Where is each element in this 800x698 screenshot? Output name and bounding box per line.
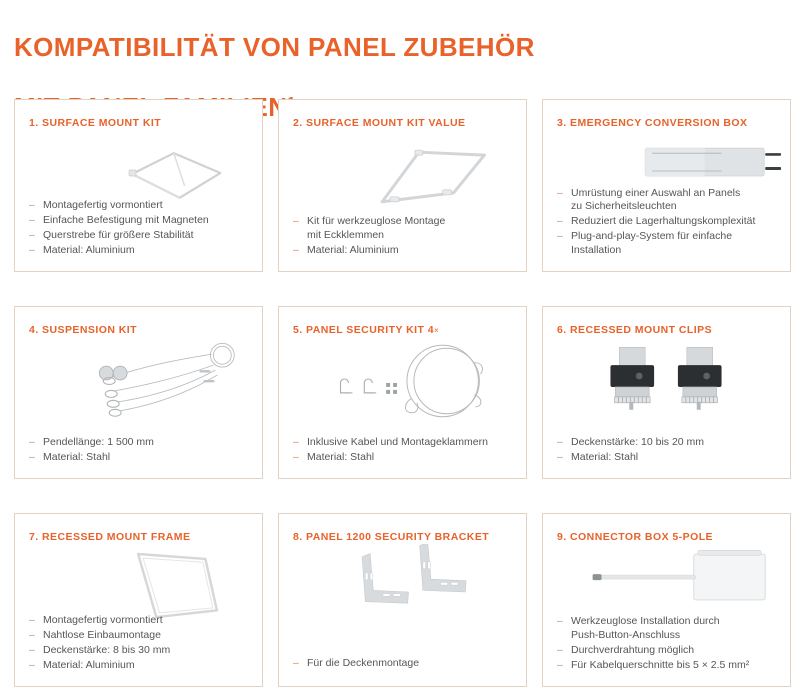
card-bullet-list: Umrüstung einer Auswahl an Panels zu Sic… [557, 187, 780, 259]
card-bullet-list: Montagefertig vormontiert Einfache Befes… [29, 199, 252, 259]
card-suspension-kit[interactable]: 4. SUSPENSION KIT [14, 306, 263, 479]
card-panel-1200-security-bracket[interactable]: 8. PANEL 1200 SECURITY BRACKET [278, 513, 527, 687]
list-item: Werkzeuglose Installation durch Push-But… [557, 615, 780, 642]
card-title: 8. PANEL 1200 SECURITY BRACKET [293, 531, 518, 543]
card-bullet-list: Werkzeuglose Installation durch Push-But… [557, 615, 780, 674]
card-bullet-list: Montagefertig vormontiert Nahtlose Einba… [29, 614, 252, 674]
list-item: Für Kabelquerschnitte bis 5 × 2.5 mm² [557, 659, 780, 673]
page-title-line-1: KOMPATIBILITÄT VON PANEL ZUBEHÖR [14, 32, 535, 62]
list-item: Reduziert die Lagerhaltungskomplexität [557, 215, 780, 229]
list-item: Deckenstärke: 8 bis 30 mm [29, 644, 252, 658]
card-title: 7. RECESSED MOUNT FRAME [29, 531, 254, 543]
surface-mount-value-frame-icon [279, 130, 526, 218]
list-item: Nahtlose Einbaumontage [29, 629, 252, 643]
card-bullet-list: Für die Deckenmontage [293, 657, 516, 672]
card-title-text: 5. PANEL SECURITY KIT 4 [293, 324, 434, 336]
list-item: Plug-and-play-System für einfache Instal… [557, 230, 780, 257]
card-bullet-list: Pendellänge: 1 500 mm Material: Stahl [29, 436, 252, 466]
card-recessed-mount-clips[interactable]: 6. RECESSED MOUNT CLIPS [542, 306, 791, 479]
list-item: Montagefertig vormontiert [29, 614, 252, 628]
list-item: Material: Aluminium [29, 244, 252, 258]
list-item: Material: Stahl [557, 451, 780, 465]
list-item: Deckenstärke: 10 bis 20 mm [557, 436, 780, 450]
card-title: 6. RECESSED MOUNT CLIPS [557, 324, 782, 336]
list-item: Querstrebe für größere Stabilität [29, 229, 252, 243]
card-bullet-list: Inklusive Kabel und Montageklammern Mate… [293, 436, 516, 466]
list-item: Material: Aluminium [29, 659, 252, 673]
card-title-multiplier: × [434, 326, 439, 335]
card-title: 5. PANEL SECURITY KIT 4× [293, 324, 518, 336]
list-item: Material: Stahl [29, 451, 252, 465]
card-bullet-list: Deckenstärke: 10 bis 20 mm Material: Sta… [557, 436, 780, 466]
panel-security-bracket-icon [279, 544, 526, 632]
card-title: 2. SURFACE MOUNT KIT VALUE [293, 117, 518, 129]
list-item: Umrüstung einer Auswahl an Panels zu Sic… [557, 187, 780, 214]
card-connector-box-5-pole[interactable]: 9. CONNECTOR BOX 5-POLE Werkzeuglose Ins… [542, 513, 791, 687]
card-surface-mount-kit-value[interactable]: 2. SURFACE MOUNT KIT VALUE Kit für werkz… [278, 99, 527, 272]
card-bullet-list: Kit für werkzeuglose Montage mit Eckklem… [293, 215, 516, 259]
recessed-mount-clips-icon [543, 337, 790, 425]
list-item: Einfache Befestigung mit Magneten [29, 214, 252, 228]
list-item: Material: Aluminium [293, 244, 516, 258]
list-item: Für die Deckenmontage [293, 657, 516, 671]
card-surface-mount-kit[interactable]: 1. SURFACE MOUNT KIT Montagefertig vormo… [14, 99, 263, 272]
list-item: Material: Stahl [293, 451, 516, 465]
list-item: Inklusive Kabel und Montageklammern [293, 436, 516, 450]
list-item: Durchverdrahtung möglich [557, 644, 780, 658]
list-item: Pendellänge: 1 500 mm [29, 436, 252, 450]
list-item: Kit für werkzeuglose Montage mit Eckklem… [293, 215, 516, 242]
card-emergency-conversion-box[interactable]: 3. EMERGENCY CONVERSION BOX Umrüstung ei… [542, 99, 791, 272]
suspension-kit-cables-icon [15, 337, 262, 425]
card-recessed-mount-frame[interactable]: 7. RECESSED MOUNT FRAME Montagefertig vo… [14, 513, 263, 687]
card-title: 3. EMERGENCY CONVERSION BOX [557, 117, 782, 129]
card-title: 9. CONNECTOR BOX 5-POLE [557, 531, 782, 543]
accessory-card-grid: 1. SURFACE MOUNT KIT Montagefertig vormo… [14, 99, 791, 687]
panel-security-kit-icon [279, 337, 526, 425]
card-title: 4. SUSPENSION KIT [29, 324, 254, 336]
card-panel-security-kit[interactable]: 5. PANEL SECURITY KIT 4× [278, 306, 527, 479]
list-item: Montagefertig vormontiert [29, 199, 252, 213]
card-title: 1. SURFACE MOUNT KIT [29, 117, 254, 129]
